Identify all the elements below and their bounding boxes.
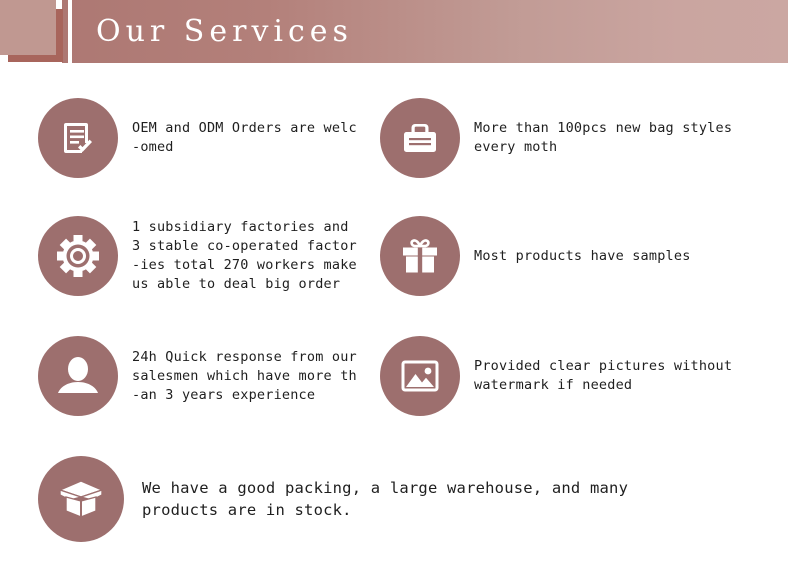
service-text: OEM and ODM Orders are welc -omed: [132, 119, 357, 157]
service-item: OEM and ODM Orders are welc -omed: [38, 98, 357, 178]
service-icon-badge: [380, 98, 460, 178]
gift-icon: [398, 234, 442, 278]
service-item: 24h Quick response from our salesmen whi…: [38, 336, 357, 416]
picture-icon: [398, 354, 442, 398]
person-icon: [55, 353, 101, 399]
service-item: 1 subsidiary factories and 3 stable co-o…: [38, 216, 357, 296]
person-icon-badge: [38, 336, 118, 416]
document-check-icon: [56, 116, 100, 160]
briefcase-icon: [398, 116, 442, 160]
service-text: Most products have samples: [474, 247, 691, 266]
service-item: Most products have samples: [380, 216, 691, 296]
gear-icon: [55, 233, 101, 279]
page-title: Our Services: [96, 8, 353, 56]
service-text: We have a good packing, a large warehous…: [142, 477, 628, 521]
open-box-icon: [56, 476, 106, 522]
service-icon-badge: [38, 216, 118, 296]
services-list: OEM and ODM Orders are welc -omed More t…: [0, 68, 788, 573]
service-icon-badge: [380, 216, 460, 296]
service-text: Provided clear pictures without watermar…: [474, 357, 732, 395]
service-text: 24h Quick response from our salesmen whi…: [132, 348, 357, 405]
page-header: Our Services: [0, 0, 788, 68]
service-text: 1 subsidiary factories and 3 stable co-o…: [132, 218, 357, 294]
service-item: More than 100pcs new bag styles every mo…: [380, 98, 732, 178]
service-icon-badge: [38, 98, 118, 178]
service-item: We have a good packing, a large warehous…: [38, 456, 628, 542]
header-square-decoration: [0, 0, 56, 55]
service-icon-badge: [380, 336, 460, 416]
service-text: More than 100pcs new bag styles every mo…: [474, 119, 732, 157]
service-icon-badge: [38, 456, 124, 542]
service-item: Provided clear pictures without watermar…: [380, 336, 732, 416]
header-divider-gap: [68, 0, 72, 63]
